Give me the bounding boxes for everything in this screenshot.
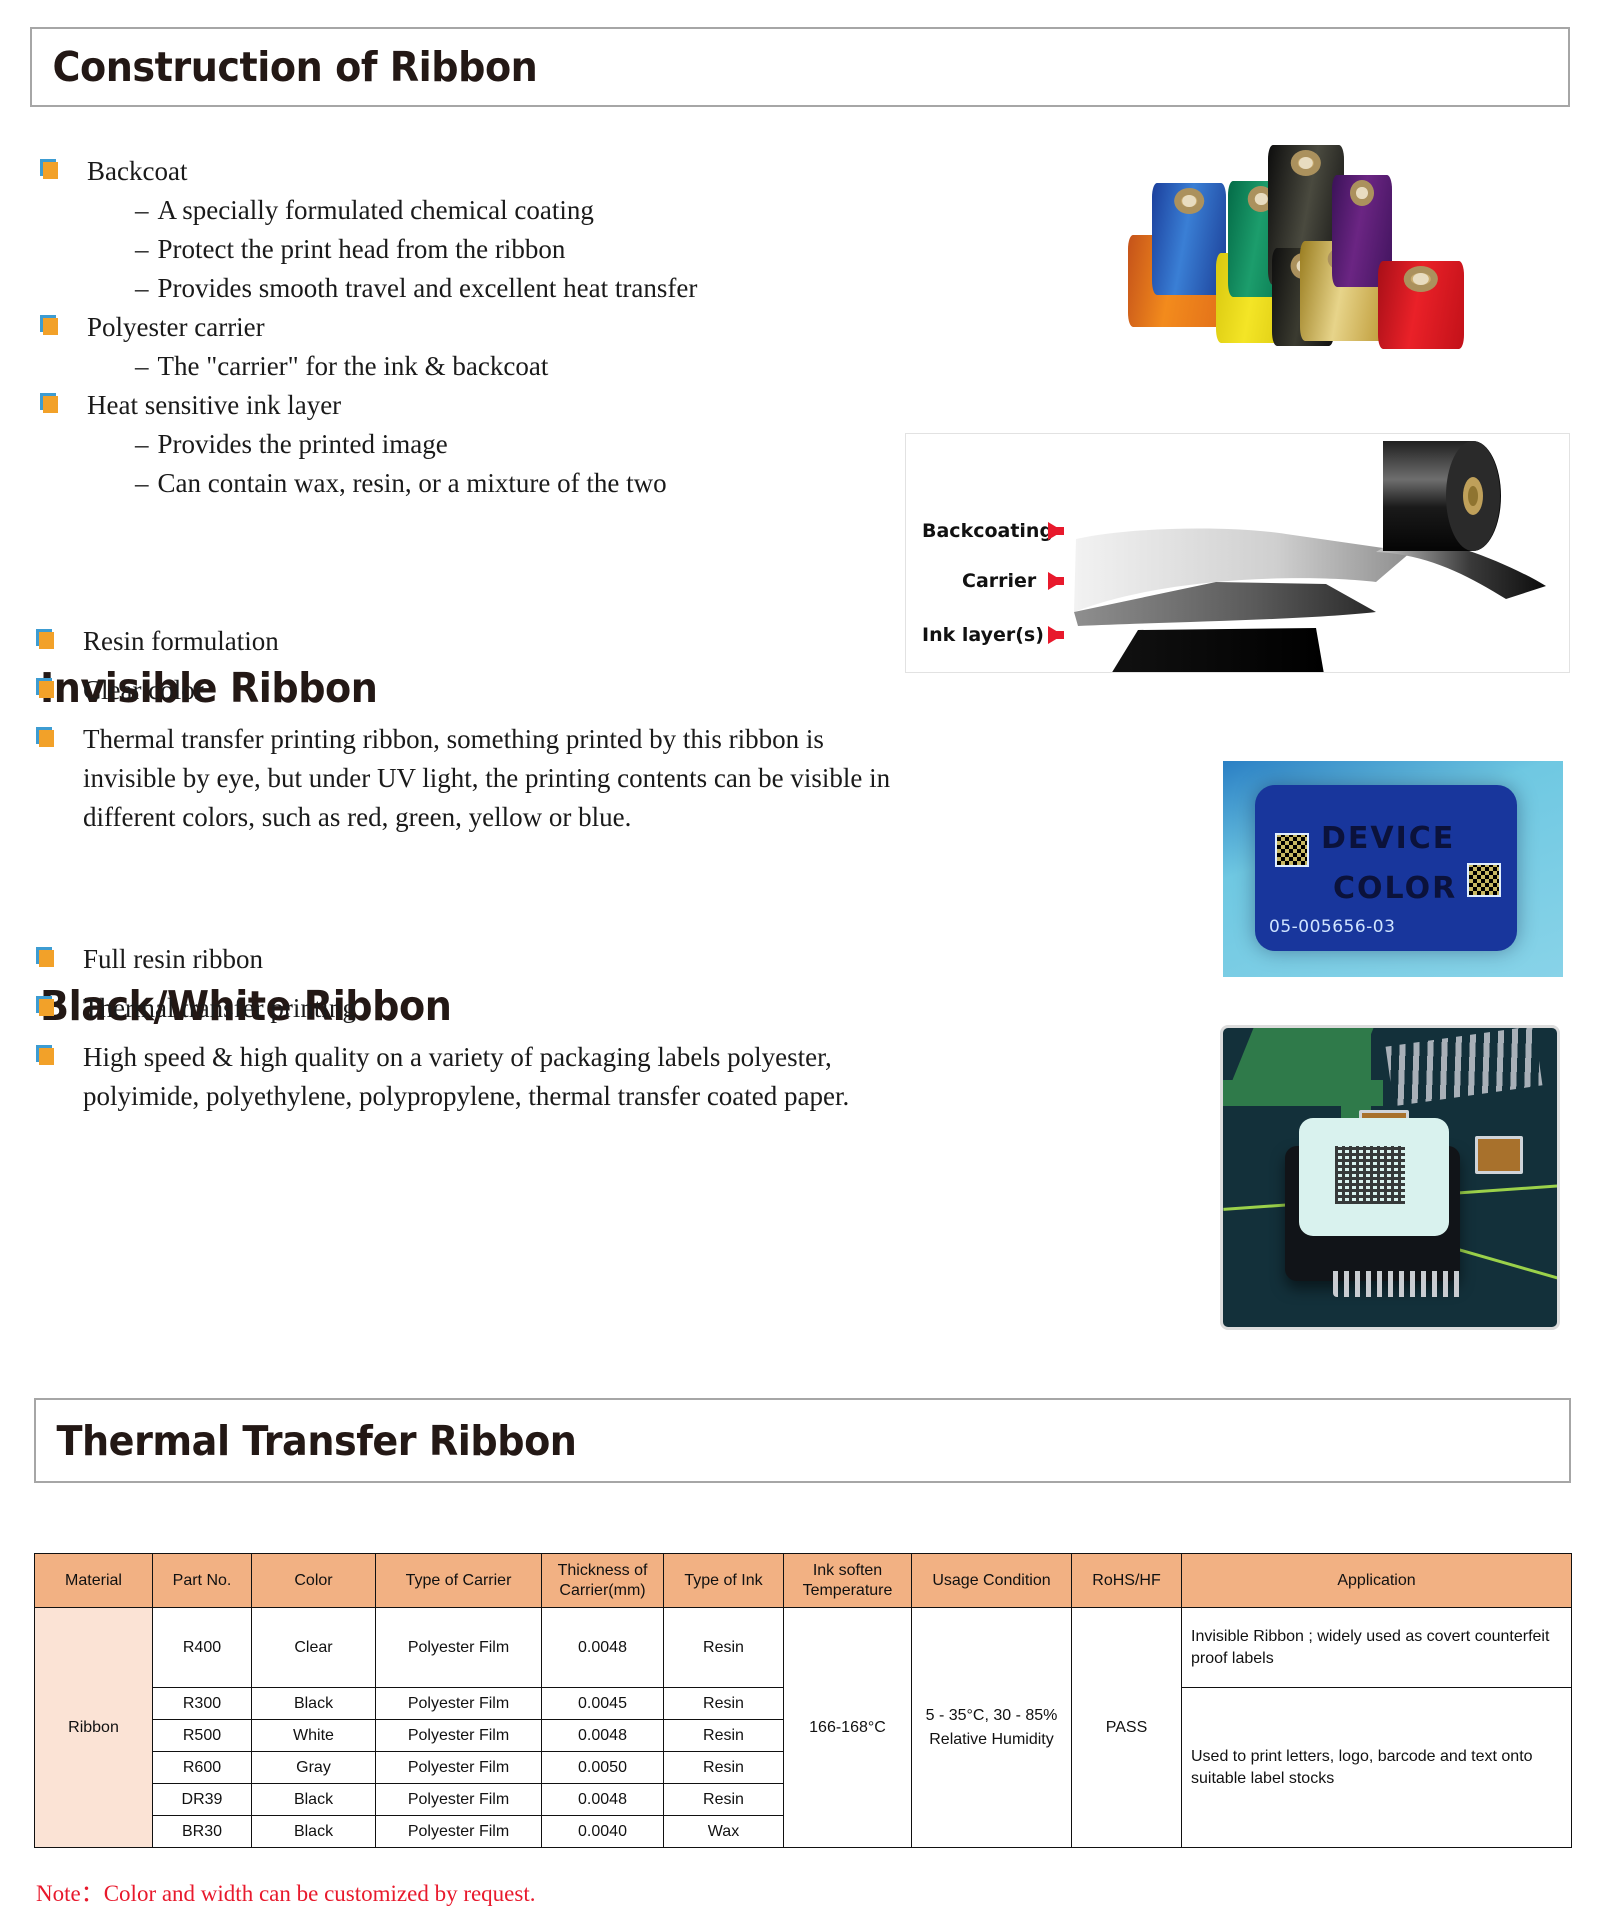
datamatrix-icon-right [1467,863,1501,897]
section-heading-construction: Construction of Ribbon [30,27,1570,107]
cell-part-no: BR30 [153,1816,252,1848]
col-header-usage: Usage Condition [912,1554,1072,1608]
cell-part-no: R400 [153,1608,252,1688]
ribbon-construction-diagram: Backcoating Carrier Ink layer(s) [905,433,1570,673]
table-body: Ribbon R400 Clear Polyester Film 0.0048 … [35,1608,1572,1848]
col-header-rohs: RoHS/HF [1072,1554,1182,1608]
cell-ink: Resin [664,1688,784,1720]
cell-color: Gray [252,1752,376,1784]
cell-thickness: 0.0040 [542,1816,664,1848]
cell-carrier: Polyester Film [376,1784,542,1816]
square-bullet-icon [40,161,58,179]
cell-carrier: Polyester Film [376,1816,542,1848]
square-bullet-icon [36,1047,54,1065]
sub-bullet-text: A specially formulated chemical coating [158,195,594,225]
cell-part-no: R300 [153,1688,252,1720]
bullet-label: High speed & high quality on a variety o… [83,1038,933,1116]
dash-icon: – [135,429,149,459]
square-bullet-icon [36,631,54,649]
list-item: Full resin ribbon [36,940,936,979]
bullet-label: Polyester carrier [87,308,265,347]
dash-icon: – [135,273,149,303]
col-header-thickness: Thickness of Carrier(mm) [542,1554,664,1608]
cell-carrier: Polyester Film [376,1720,542,1752]
list-item: High speed & high quality on a variety o… [36,1038,936,1116]
sub-list-item: –Provides smooth travel and excellent he… [40,269,900,308]
col-header-type-ink: Type of Ink [664,1554,784,1608]
list-item: Polyester carrier [40,308,900,347]
diagram-label-carrier: Carrier [962,570,1036,592]
datamatrix-icon-left [1275,833,1309,867]
bullet-label: Backcoat [87,152,187,191]
ribbon-rolls-photo [1100,113,1500,353]
heading-text-construction: Construction of Ribbon [32,43,537,91]
cell-part-no: DR39 [153,1784,252,1816]
square-bullet-icon [40,395,58,413]
table-header: Material Part No. Color Type of Carrier … [35,1554,1572,1608]
diagram-label-ink-layers: Ink layer(s) [922,624,1044,646]
sub-list-item: –Protect the print head from the ribbon [40,230,900,269]
cell-part-no: R600 [153,1752,252,1784]
cell-usage-condition: 5 - 35°C, 30 - 85% Relative Humidity [912,1608,1072,1848]
list-item: Thermal transfer printing ribbon, someth… [36,720,916,837]
sub-bullet-text: Can contain wax, resin, or a mixture of … [158,468,667,498]
uv-label-serial: 05-005656-03 [1269,917,1395,937]
ribbon-spec-table: Material Part No. Color Type of Carrier … [34,1553,1572,1848]
pcb-smd-component [1475,1136,1523,1174]
square-bullet-icon [40,317,58,335]
bullet-label: Thermal transfer printing ribbon, someth… [83,720,913,837]
diagram-label-backcoating: Backcoating [922,520,1053,542]
pcb-chip-photo [1220,1025,1560,1330]
dash-icon: – [135,234,149,264]
col-header-color: Color [252,1554,376,1608]
ribbon-roll-red [1378,261,1464,349]
cell-ink: Resin [664,1752,784,1784]
cell-ink-soften-temperature: 166-168°C [784,1608,912,1848]
bullet-list-construction: Backcoat –A specially formulated chemica… [40,152,900,503]
sub-bullet-text: Protect the print head from the ribbon [158,234,566,264]
uv-label-line2: COLOR [1333,871,1457,906]
dash-icon: – [135,351,149,381]
sub-bullet-text: Provides smooth travel and excellent hea… [158,273,698,303]
pcb-pin-header [1386,1026,1543,1106]
square-bullet-icon [36,998,54,1016]
list-item: Thermal transfer printing [36,989,936,1028]
cell-ink: Resin [664,1720,784,1752]
uv-label-photo: DEVICE COLOR 05-005656-03 [1223,761,1563,977]
table-note: Note：Color and width can be customized b… [36,1874,536,1908]
arrow-icon-carrier [1048,572,1063,590]
pcb-chip-pins [1333,1271,1463,1297]
dash-icon: – [135,468,149,498]
cell-ink: Resin [664,1784,784,1816]
sub-bullet-text: The "carrier" for the ink & backcoat [158,351,549,381]
sub-list-item: –Provides the printed image [40,425,900,464]
cell-carrier: Polyester Film [376,1608,542,1688]
bullet-label: Full resin ribbon [83,940,263,979]
col-header-ink-soften: Ink soften Temperature [784,1554,912,1608]
cell-part-no: R500 [153,1720,252,1752]
arrow-icon-backcoating [1048,522,1063,540]
cell-carrier: Polyester Film [376,1752,542,1784]
cell-rohs: PASS [1072,1608,1182,1848]
col-header-part-no: Part No. [153,1554,252,1608]
col-header-application: Application [1182,1554,1572,1608]
cell-thickness: 0.0048 [542,1608,664,1688]
list-item: Heat sensitive ink layer [40,386,900,425]
dash-icon: – [135,195,149,225]
list-item: Backcoat [40,152,900,191]
cell-ink: Resin [664,1608,784,1688]
cell-color: Black [252,1688,376,1720]
table-row: Ribbon R400 Clear Polyester Film 0.0048 … [35,1608,1572,1688]
arrow-icon-ink-layers [1048,626,1063,644]
cell-color: Black [252,1816,376,1848]
pcb-chip-label [1299,1118,1449,1236]
qr-code-icon [1335,1146,1405,1204]
bullet-list-blackwhite: Full resin ribbon Thermal transfer print… [36,940,936,1126]
pcb-trace [1223,1080,1383,1106]
cell-carrier: Polyester Film [376,1688,542,1720]
uv-label-card: DEVICE COLOR 05-005656-03 [1255,785,1517,951]
bullet-label: Resin formulation [83,622,279,661]
pcb-chip [1285,1146,1460,1281]
cell-color: Black [252,1784,376,1816]
heading-text-thermal: Thermal Transfer Ribbon [36,1417,576,1465]
cell-application-2: Used to print letters, logo, barcode and… [1182,1688,1572,1848]
cell-color: White [252,1720,376,1752]
cell-thickness: 0.0045 [542,1688,664,1720]
square-bullet-icon [36,729,54,747]
cell-thickness: 0.0048 [542,1720,664,1752]
uv-label-line1: DEVICE [1321,821,1455,856]
sub-list-item: –A specially formulated chemical coating [40,191,900,230]
bullet-label: Heat sensitive ink layer [87,386,341,425]
sub-list-item: –Can contain wax, resin, or a mixture of… [40,464,900,503]
cell-thickness: 0.0048 [542,1784,664,1816]
sub-list-item: –The "carrier" for the ink & backcoat [40,347,900,386]
cell-thickness: 0.0050 [542,1752,664,1784]
cell-color: Clear [252,1608,376,1688]
cell-material: Ribbon [35,1608,153,1848]
col-header-type-carrier: Type of Carrier [376,1554,542,1608]
cell-application-1: Invisible Ribbon ; widely used as covert… [1182,1608,1572,1688]
ribbon-roll-blue [1152,183,1226,295]
bullet-label: Thermal transfer printing [83,989,356,1028]
list-item: Resin formulation [36,622,916,661]
square-bullet-icon [36,949,54,967]
bullet-list-invisible: Resin formulation Clear color Thermal tr… [36,622,916,847]
col-header-material: Material [35,1554,153,1608]
bullet-label: Clear color [83,671,204,710]
sub-bullet-text: Provides the printed image [158,429,448,459]
section-heading-thermal: Thermal Transfer Ribbon [34,1398,1571,1483]
cell-ink: Wax [664,1816,784,1848]
table-header-row: Material Part No. Color Type of Carrier … [35,1554,1572,1608]
square-bullet-icon [36,680,54,698]
list-item: Clear color [36,671,916,710]
